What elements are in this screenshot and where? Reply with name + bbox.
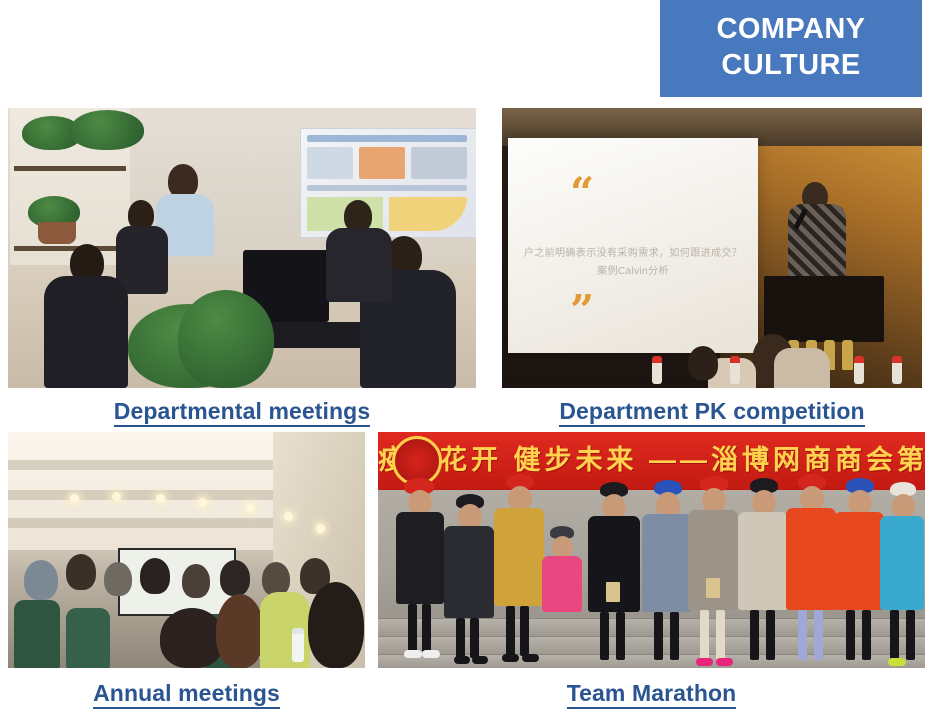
projection-screen <box>118 548 236 616</box>
chair <box>14 600 60 668</box>
slide-canvas: COMPANY CULTURE <box>0 0 945 720</box>
participant <box>786 508 836 610</box>
caption-annual-meetings: Annual meetings <box>8 680 365 707</box>
attendee-head <box>66 554 96 590</box>
attendee-head <box>104 562 132 596</box>
attendee-body <box>116 226 168 294</box>
attendee-body <box>326 228 392 302</box>
podium <box>764 276 884 342</box>
page-title-line-2: CULTURE <box>721 48 860 83</box>
chair <box>66 608 110 668</box>
company-culture-title-banner: COMPANY CULTURE <box>660 0 922 97</box>
photo-team-marathon: 疫后花开 健步未来 ——淄博网商商会第 <box>378 432 925 668</box>
caption-department-pk-competition: Department PK competition <box>502 398 922 425</box>
gift-bag <box>606 582 620 602</box>
participant-child <box>542 556 582 612</box>
participant <box>444 526 494 618</box>
projection-screen: “ 户之前明确表示没有采购需求，如何跟进成交？ 案例Calvin分析 ” <box>508 138 758 353</box>
attendee-head <box>140 558 170 594</box>
water-bottle <box>292 628 304 662</box>
photo-department-pk-competition: “ 户之前明确表示没有采购需求，如何跟进成交？ 案例Calvin分析 ” <box>502 108 922 388</box>
shelf-plant <box>70 110 144 150</box>
water-bottle <box>730 356 740 384</box>
event-banner: 疫后花开 健步未来 ——淄博网商商会第 <box>378 432 925 490</box>
attendee-head-foreground <box>216 594 264 668</box>
caption-text: Team Marathon <box>567 680 737 709</box>
audience-shoulder <box>774 348 830 388</box>
water-bottle <box>892 356 902 384</box>
attendee-body <box>44 276 128 388</box>
caption-text: Departmental meetings <box>114 398 370 427</box>
page-title-line-1: COMPANY <box>717 12 866 47</box>
slide-text-line-1: 户之前明确表示没有采购需求，如何跟进成交？ <box>508 246 758 261</box>
water-bottle <box>854 356 864 384</box>
audience-head <box>688 346 718 380</box>
attendee-head-foreground <box>308 582 364 668</box>
attendee-head <box>262 562 290 596</box>
caption-text: Department PK competition <box>559 398 864 427</box>
participant <box>880 516 924 610</box>
participant <box>738 512 788 610</box>
attendee-head <box>168 164 198 198</box>
slide-text-line-2: 案例Calvin分析 <box>508 264 758 279</box>
speaker-body <box>788 204 846 282</box>
participant <box>494 508 544 606</box>
caption-departmental-meetings: Departmental meetings <box>8 398 476 425</box>
caption-team-marathon: Team Marathon <box>378 680 925 707</box>
attendee-head <box>24 560 58 600</box>
caption-text: Annual meetings <box>93 680 280 709</box>
photo-departmental-meetings <box>8 108 476 388</box>
trophy <box>842 340 853 370</box>
foreground-plant <box>178 290 274 388</box>
attendee-head <box>182 564 210 598</box>
attendee-head-foreground <box>160 608 224 668</box>
water-bottle <box>652 356 662 384</box>
quote-close-icon: ” <box>570 290 594 332</box>
projector-slide <box>300 128 476 238</box>
attendee-head <box>220 560 250 596</box>
banner-text-right: ——淄博网商商会第 <box>649 445 925 475</box>
gift-bag <box>706 578 720 598</box>
participant <box>834 512 884 610</box>
banner-text: 疫后花开 健步未来 ——淄博网商商会第 <box>378 438 925 477</box>
quote-open-icon: “ <box>570 172 594 214</box>
participant <box>642 514 692 612</box>
participant <box>396 512 444 604</box>
photo-annual-meetings <box>8 432 365 668</box>
flower-pot <box>38 222 76 244</box>
